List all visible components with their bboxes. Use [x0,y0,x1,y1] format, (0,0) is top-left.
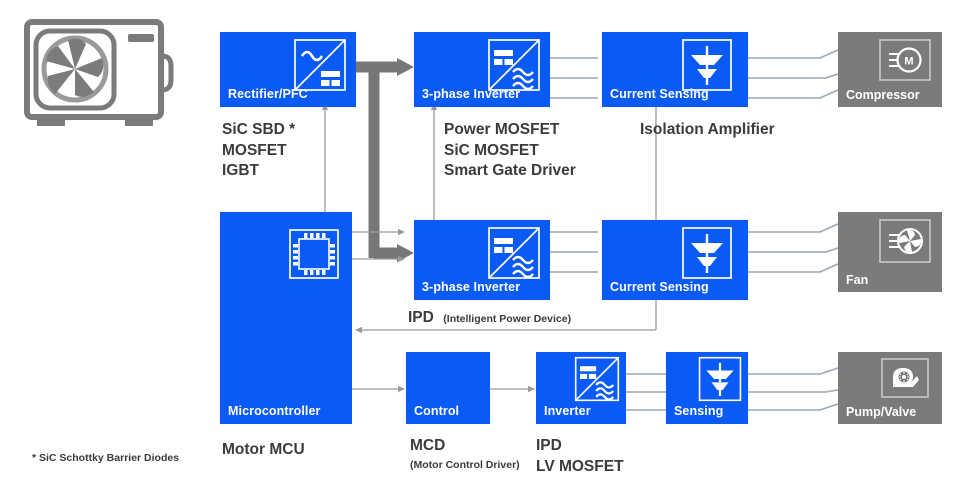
block-rectifier-pfc[interactable]: Rectifier/PFC [220,32,356,107]
load-pump-valve[interactable]: Pump/Valve [838,352,942,424]
block-label: 3-phase Inverter [422,281,520,295]
block-diagram-canvas: Rectifier/PFC 3-phase Inverter [0,0,960,500]
footnote-sic-sbd: * SiC Schottky Barrier Diodes [32,452,179,464]
phase-wires-inverter-to-sensing-compressor [550,58,598,98]
block-current-sensing-fan[interactable]: Current Sensing [602,220,748,300]
caption-lv-parts: IPD LV MOSFET [536,436,624,477]
block-inverter-fan[interactable]: 3-phase Inverter [414,220,550,300]
load-compressor[interactable]: M Compressor [838,32,942,107]
block-microcontroller[interactable]: Microcontroller [220,212,352,424]
load-fan[interactable]: Fan [838,212,942,292]
block-inverter-pump[interactable]: Inverter [536,352,626,424]
caption-motor-mcu: Motor MCU [222,440,305,461]
block-label: Control [414,405,459,419]
phase-wires-sensing-to-compressor [748,50,838,98]
block-label: Current Sensing [610,281,709,295]
pump-icon [879,357,931,399]
caption-ipd: IPD [408,309,434,326]
caption-inverter-parts: Power MOSFET SiC MOSFET Smart Gate Drive… [444,120,576,182]
isolation-amplifier-icon [680,226,734,280]
mcu-chip-icon [286,226,342,282]
ac-to-dc-rectifier-icon [292,38,348,92]
isolation-amplifier-icon [680,38,734,92]
caption-mcd-group: MCD (Motor Control Driver) [410,436,520,473]
load-label: Compressor [846,88,920,102]
fan-blade-icon [877,218,933,264]
motor-m-icon: M [877,38,933,82]
caption-ipd-expansion: (Intelligent Power Device) [443,313,571,325]
dc-bus-trunk [356,58,414,262]
block-label: Sensing [674,405,723,419]
dc-to-ac-inverter-icon [573,356,621,402]
dc-to-ac-inverter-icon [486,38,542,92]
caption-ipd-group: IPD (Intelligent Power Device) [408,308,571,329]
block-label: Rectifier/PFC [228,88,308,102]
caption-mcd: MCD [410,436,520,457]
phase-wires-inverter-to-sensing-pump [626,374,666,410]
dc-to-ac-inverter-icon [486,226,542,280]
phase-wires-sensing-to-pump [748,368,838,410]
block-control[interactable]: Control [406,352,490,424]
phase-wires-inverter-to-sensing-fan [550,232,598,272]
caption-mcd-expansion: (Motor Control Driver) [410,459,520,473]
load-label: Fan [846,273,868,287]
block-label: Microcontroller [228,405,321,419]
block-label: Current Sensing [610,88,709,102]
svg-text:M: M [904,56,913,68]
isolation-amplifier-icon [697,356,743,402]
block-inverter-compressor[interactable]: 3-phase Inverter [414,32,550,107]
block-sensing-pump[interactable]: Sensing [666,352,748,424]
caption-rectifier-parts: SiC SBD * MOSFET IGBT [222,120,295,182]
load-label: Pump/Valve [846,405,916,419]
caption-sensing-parts: Isolation Amplifier [640,120,775,141]
phase-wires-sensing-to-fan [748,224,838,272]
block-current-sensing-compressor[interactable]: Current Sensing [602,32,748,107]
block-label: Inverter [544,405,591,419]
block-label: 3-phase Inverter [422,88,520,102]
ac-outdoor-unit-icon [22,18,184,136]
